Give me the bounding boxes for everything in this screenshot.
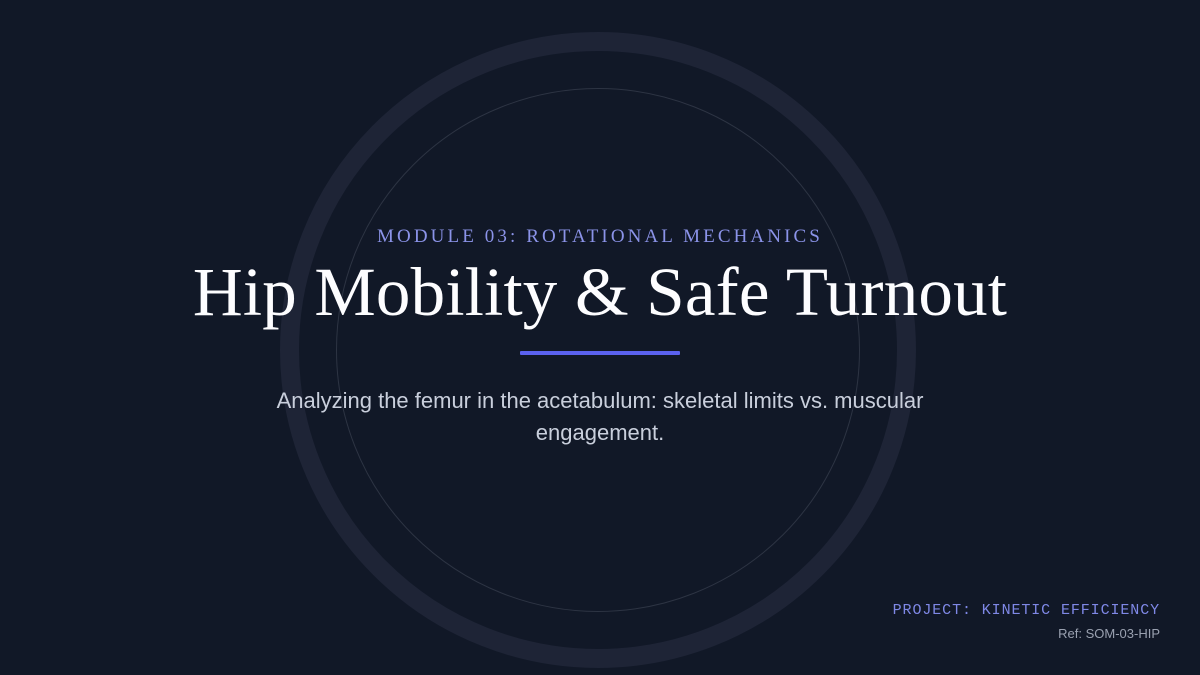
- page-subtitle: Analyzing the femur in the acetabulum: s…: [255, 385, 945, 449]
- module-eyebrow: MODULE 03: ROTATIONAL MECHANICS: [377, 226, 823, 249]
- footer-project-label: PROJECT: KINETIC EFFICIENCY: [893, 601, 1160, 621]
- slide-content: MODULE 03: ROTATIONAL MECHANICS Hip Mobi…: [0, 0, 1200, 675]
- accent-divider: [520, 351, 680, 355]
- page-title: Hip Mobility & Safe Turnout: [193, 255, 1007, 330]
- slide-footer: PROJECT: KINETIC EFFICIENCY Ref: SOM-03-…: [893, 601, 1160, 643]
- footer-reference-label: Ref: SOM-03-HIP: [893, 624, 1160, 644]
- title-slide: MODULE 03: ROTATIONAL MECHANICS Hip Mobi…: [0, 0, 1200, 675]
